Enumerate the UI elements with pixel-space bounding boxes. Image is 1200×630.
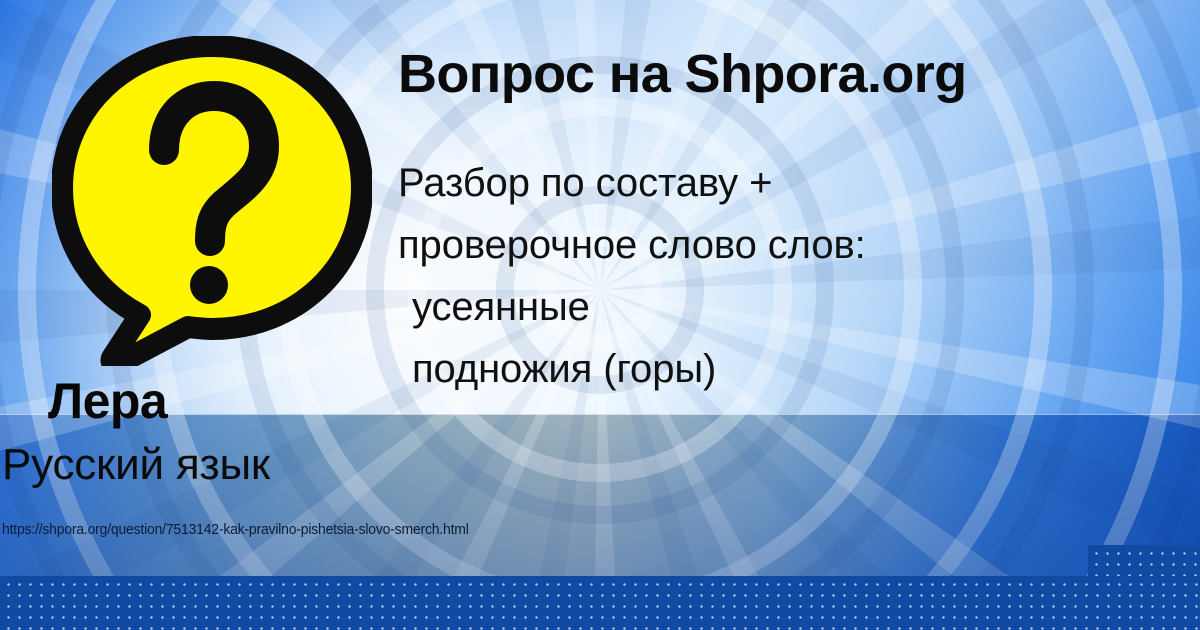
footer-dotted-band [0,576,1200,630]
footer-dot-notch [1088,545,1200,576]
question-speech-bubble-icon [52,36,372,366]
question-share-card: Вопрос на Shpora.org Разбор по составу +… [0,0,1200,630]
question-line-4: подножия (горы) [398,338,1098,400]
page-title: Вопрос на Shpora.org [398,43,967,105]
question-mark-dot [190,266,228,304]
panel-seam-divider [0,414,1200,415]
question-text: Разбор по составу + проверочное слово сл… [398,152,1098,400]
source-url[interactable]: https://shpora.org/question/7513142-kak-… [2,521,469,538]
background-lower-shade [0,414,1200,576]
author-name: Лера [48,372,167,430]
question-line-2: проверочное слово слов: [398,214,1098,276]
question-line-1: Разбор по составу + [398,152,1098,214]
subject-label: Русский язык [2,440,270,490]
question-line-3: усеянные [398,276,1098,338]
background-lower-panel [0,414,1200,576]
